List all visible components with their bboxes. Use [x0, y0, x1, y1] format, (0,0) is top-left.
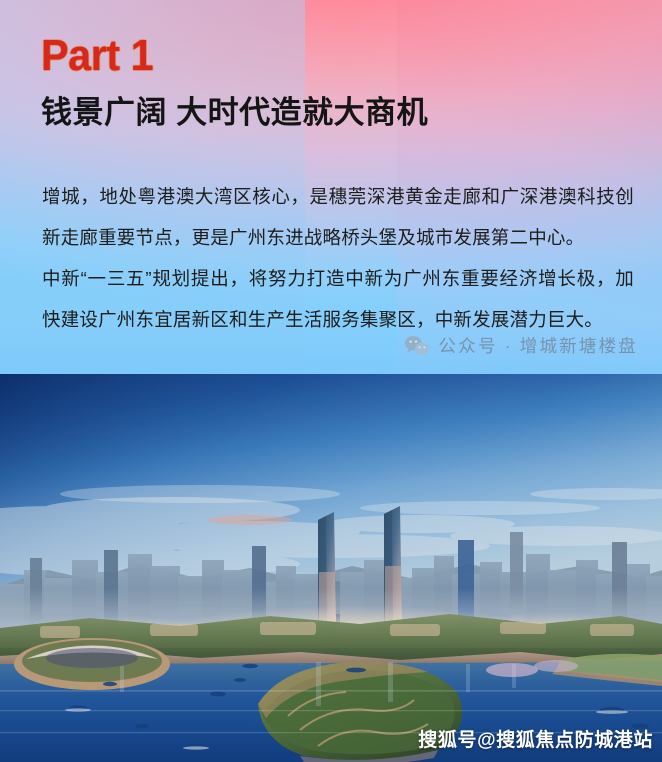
body-paragraph: 中新“一三五”规划提出，将努力打造中新为广州东重要经济增长极，加快建设广州东宜居… — [42, 258, 634, 340]
cityscape-illustration — [0, 374, 662, 762]
wechat-attribution: 公众号 · 增城新塘楼盘 — [404, 335, 638, 357]
intro-text-panel: Part 1 钱景广阔 大时代造就大商机 增城，地处粤港澳大湾区核心，是穗莞深港… — [0, 0, 662, 374]
sohu-watermark: 搜狐号@搜狐焦点防城港站 — [418, 729, 653, 753]
wechat-icon — [404, 335, 430, 357]
body-paragraph: 增城，地处粤港澳大湾区核心，是穗莞深港黄金走廊和广深港澳科技创新走廊重要节点，更… — [42, 176, 634, 258]
cityscape-photo: 搜狐号@搜狐焦点防城港站 — [0, 374, 662, 762]
article-page: Part 1 钱景广阔 大时代造就大商机 增城，地处粤港澳大湾区核心，是穗莞深港… — [0, 0, 662, 762]
page-title: 钱景广阔 大时代造就大商机 — [41, 94, 428, 132]
part-label: Part 1 — [41, 31, 153, 81]
wechat-attribution-label: 公众号 · 增城新塘楼盘 — [439, 335, 638, 357]
